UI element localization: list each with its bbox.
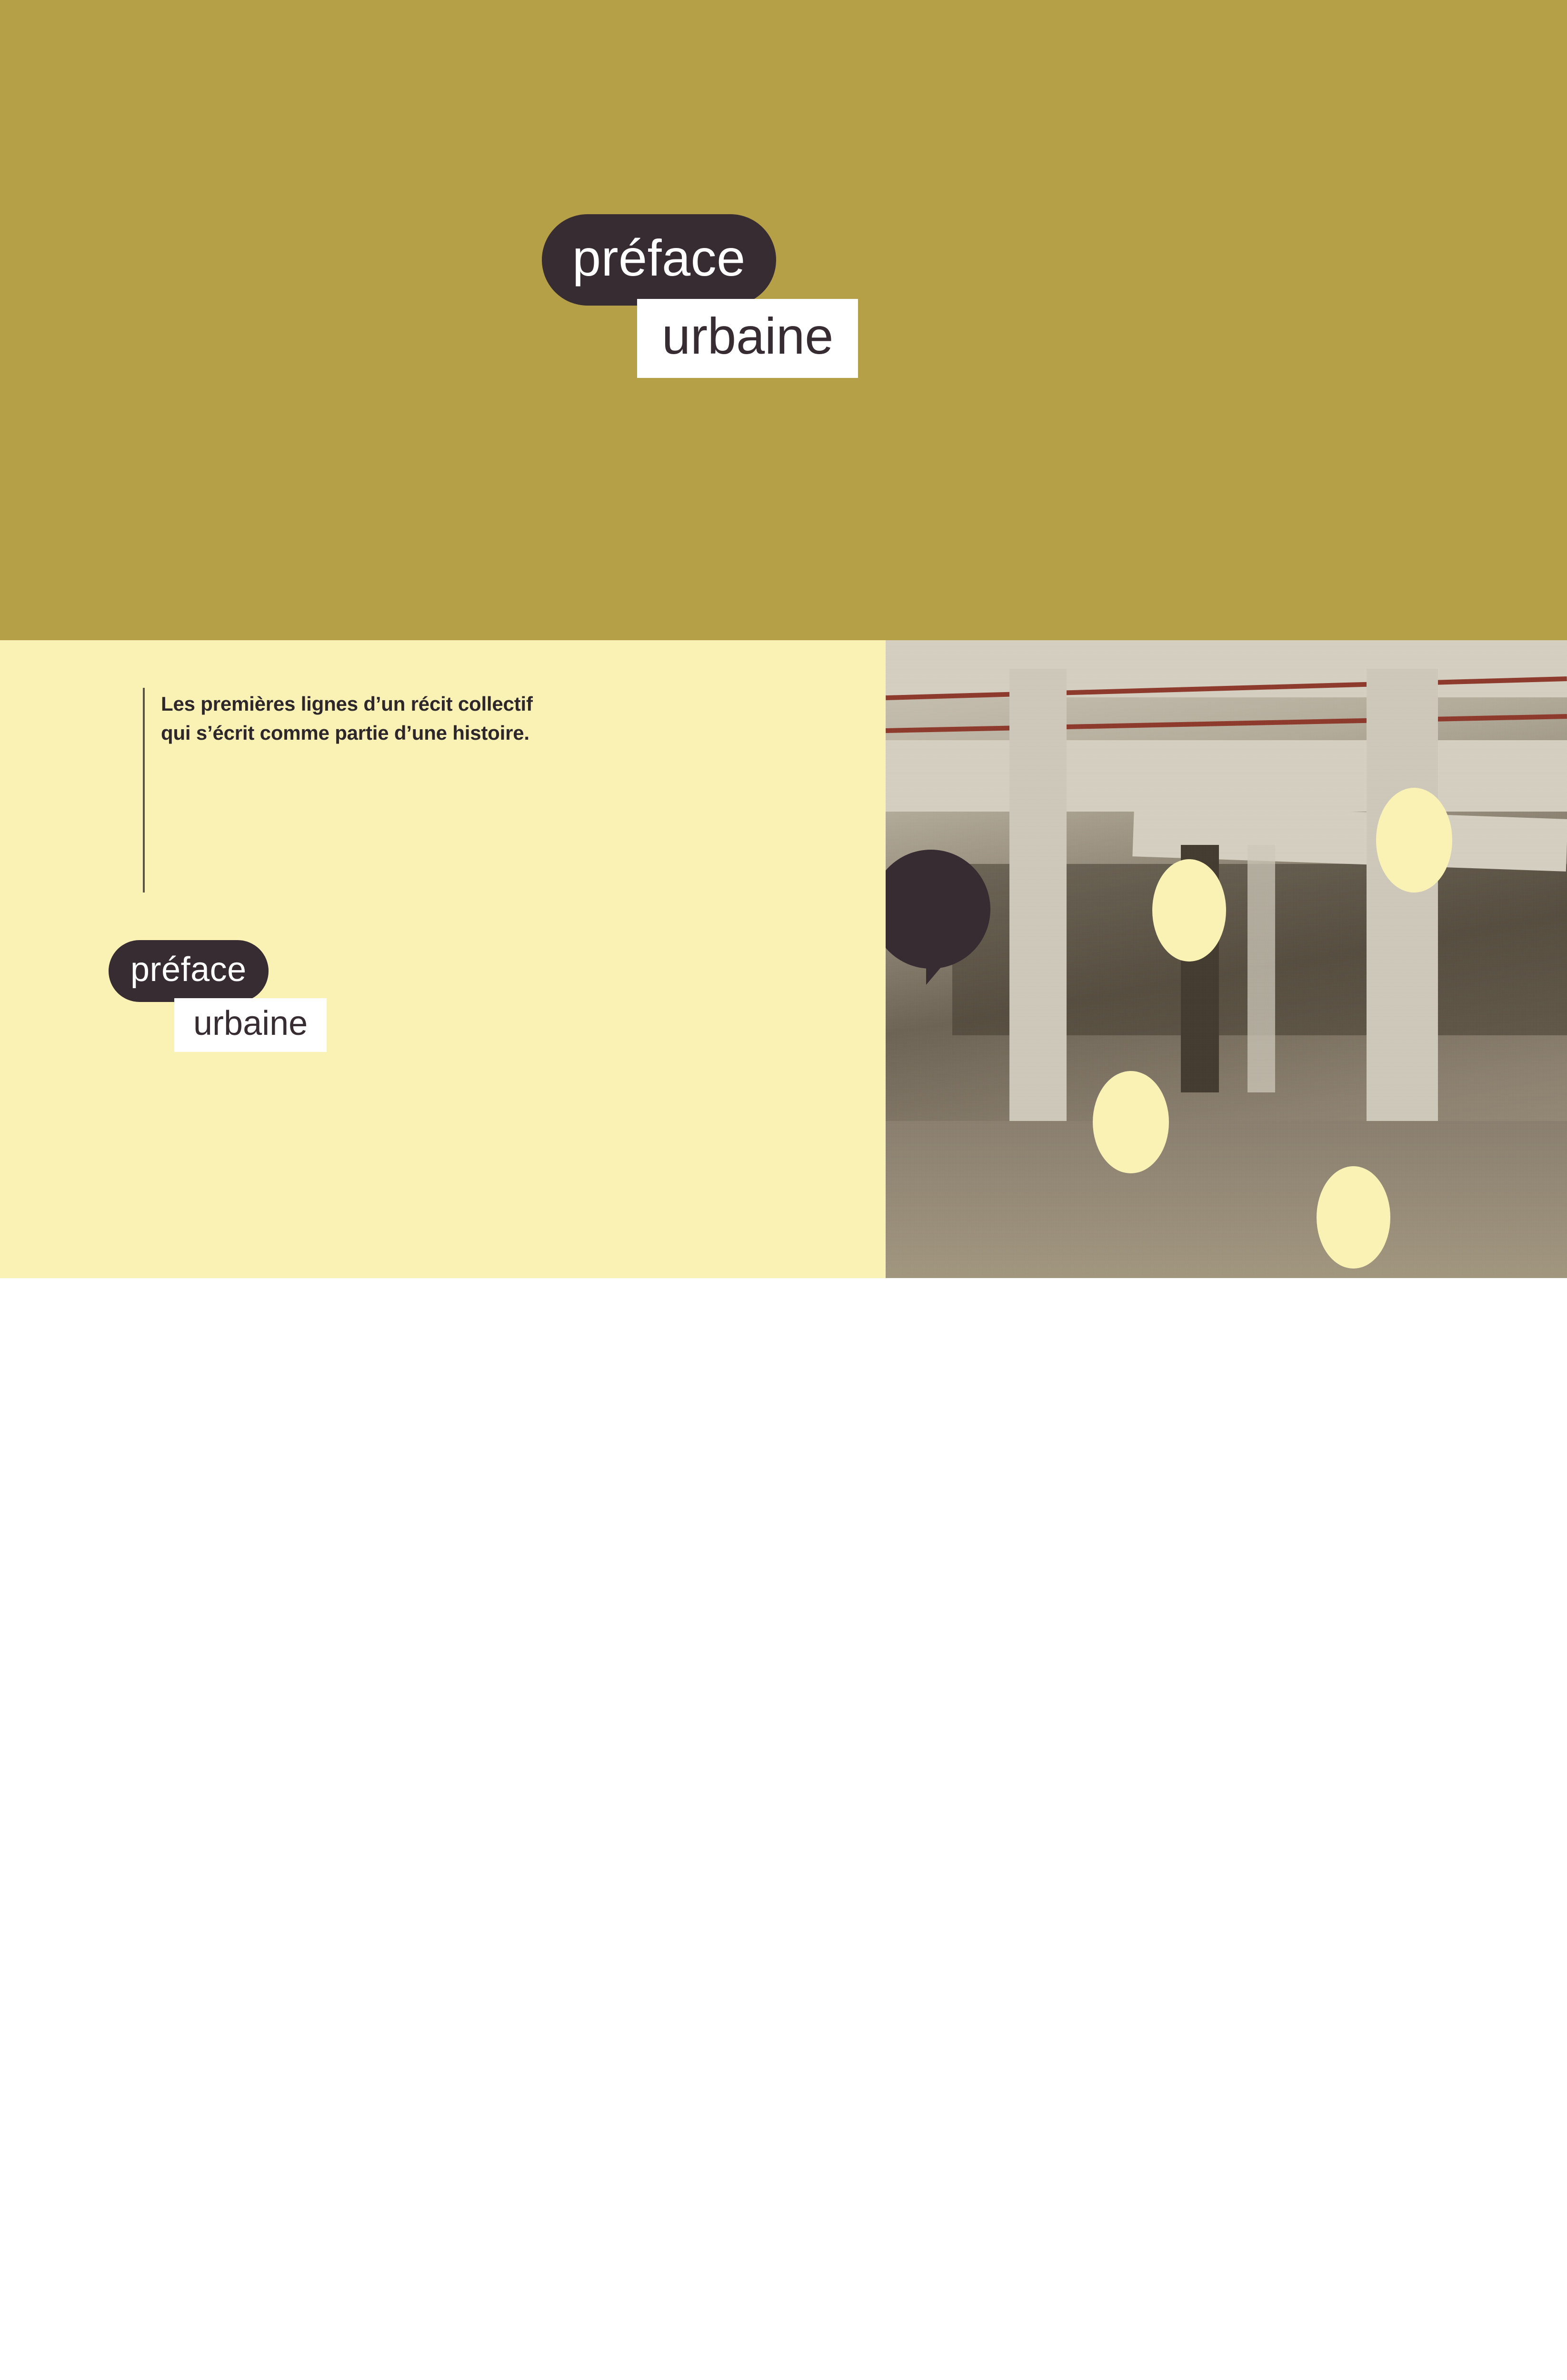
intro-logo-row-2: urbaine [109, 998, 327, 1052]
garage-photo [886, 640, 1567, 1278]
accent-ellipse-3 [1093, 1071, 1169, 1173]
hero-logo-row-2: urbaine [542, 299, 980, 378]
tagline-line-2: qui s’écrit comme partie d’une histoire. [161, 719, 533, 748]
hero-logo-lockup: préface urbaine [542, 214, 980, 378]
photo-grain [886, 640, 1567, 1278]
hero-banner: préface urbaine [0, 0, 1567, 640]
intro-tagline: Les premières lignes d’un récit collecti… [143, 688, 533, 892]
accent-ellipse-2 [1376, 788, 1452, 892]
section-couverture: couverture Redonner usages aux lieux [0, 1745, 1567, 2244]
logo-word-urbaine: urbaine [174, 998, 327, 1052]
tagline-copy: Les premières lignes d’un récit collecti… [161, 688, 533, 892]
hero-logo-row-1: préface [542, 214, 980, 306]
intro-logo-lockup: préface urbaine [109, 940, 327, 1052]
logo-word-urbaine: urbaine [637, 299, 858, 378]
intro-logo-row-1: préface [109, 940, 327, 1002]
tagline-rule [143, 688, 145, 892]
section-image-de-profil: image de profil préface urbaine [0, 1278, 1567, 1745]
accent-ellipse-1 [1152, 859, 1226, 962]
intro-band: Les premières lignes d’un récit collecti… [0, 640, 1567, 1278]
tagline-line-1: Les premières lignes d’un récit collecti… [161, 690, 533, 719]
logo-word-preface: préface [109, 940, 269, 1002]
section-signature-de-mail: signature de mail préface urbaine Prénom… [0, 2244, 1567, 2380]
logo-word-preface: préface [542, 214, 776, 306]
accent-ellipse-4 [1317, 1166, 1390, 1269]
